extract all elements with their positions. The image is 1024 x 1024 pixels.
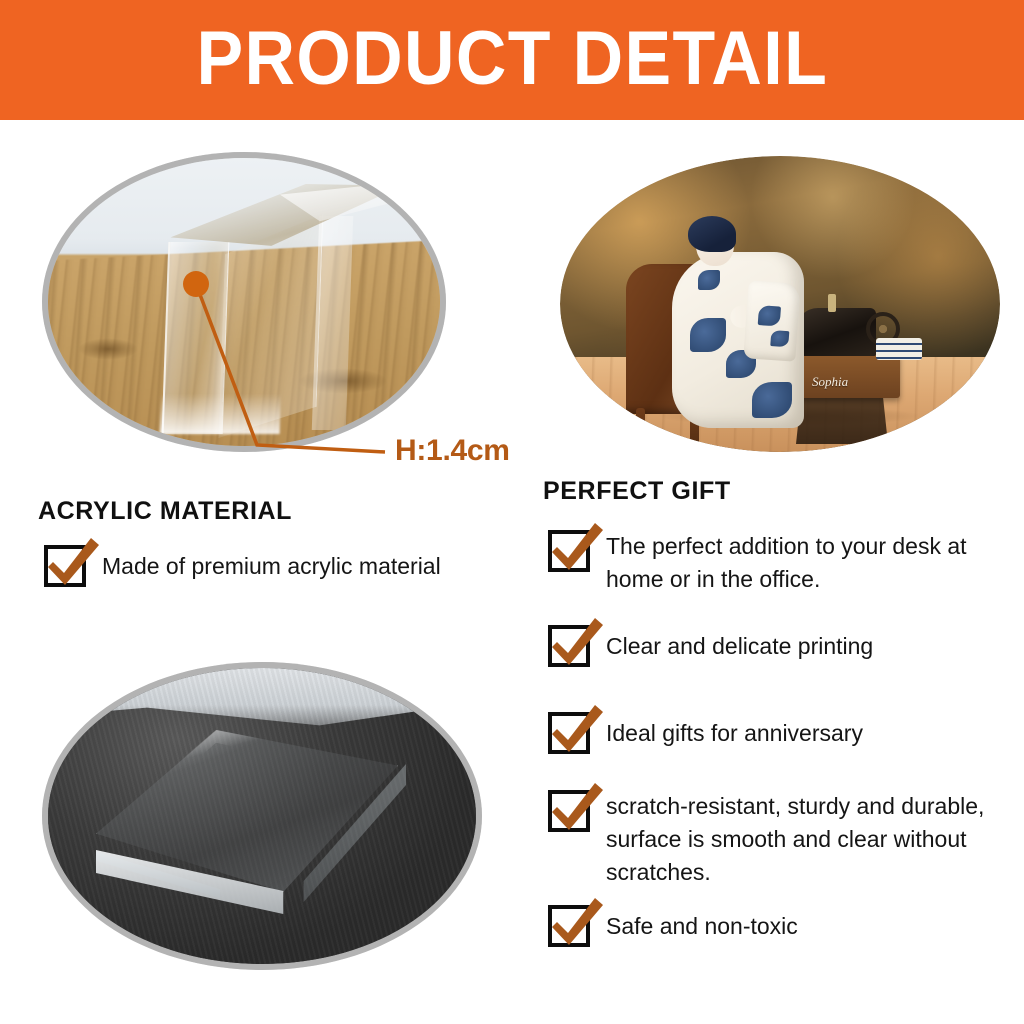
acrylic-bottom-glow: [160, 394, 281, 434]
folded-fabric-stack: [876, 338, 922, 360]
dimension-label: H:1.4cm: [395, 434, 510, 468]
thread-spool: [828, 294, 836, 312]
checkmark-icon: [548, 517, 606, 575]
acrylic-block-edge: [162, 184, 319, 434]
list-item-label: Made of premium acrylic material: [102, 550, 441, 583]
product-photo-acrylic-block: [42, 662, 482, 970]
list-item-label: Ideal gifts for anniversary: [606, 717, 863, 750]
checkbox-checked-icon: [44, 545, 86, 587]
list-item: scratch-resistant, sturdy and durable, s…: [548, 790, 1006, 889]
list-item: Made of premium acrylic material: [44, 545, 441, 587]
page-title: PRODUCT DETAIL: [196, 21, 828, 97]
list-item: Clear and delicate printing: [548, 625, 873, 667]
checkbox-checked-icon: [548, 625, 590, 667]
figurine-hair: [688, 216, 736, 252]
list-item: Safe and non-toxic: [548, 905, 798, 947]
list-item: Ideal gifts for anniversary: [548, 712, 863, 754]
acrylic-block: [96, 730, 396, 930]
blue-floral-motif: [690, 318, 726, 352]
list-item-label: The perfect addition to your desk at hom…: [606, 530, 1006, 596]
section-heading-acrylic-material: ACRYLIC MATERIAL: [38, 497, 292, 526]
product-photo-figurine: Sophia: [560, 156, 1000, 452]
checkmark-icon: [44, 532, 102, 590]
list-item-label: scratch-resistant, sturdy and durable, s…: [606, 790, 1006, 889]
wood-knot: [78, 338, 138, 360]
list-item: The perfect addition to your desk at hom…: [548, 530, 1006, 596]
acrylic-edge-scene: [48, 158, 440, 446]
checkbox-checked-icon: [548, 530, 590, 572]
sewing-machine-treadle-base: [796, 392, 888, 444]
section-heading-perfect-gift: PERFECT GIFT: [543, 477, 731, 506]
embroidered-cloth: [743, 280, 800, 361]
list-item-label: Clear and delicate printing: [606, 630, 873, 663]
checkmark-icon: [548, 612, 606, 670]
blue-floral-motif: [770, 330, 789, 347]
blue-floral-motif: [698, 270, 720, 290]
list-item-label: Safe and non-toxic: [606, 910, 798, 943]
chair-leg: [636, 408, 645, 452]
checkmark-icon: [548, 699, 606, 757]
checkbox-checked-icon: [548, 905, 590, 947]
header-banner: PRODUCT DETAIL: [0, 0, 1024, 120]
sewing-machine-head: [796, 308, 876, 356]
acrylic-block-scene: [48, 668, 476, 964]
checkmark-icon: [548, 892, 606, 950]
checkbox-checked-icon: [548, 712, 590, 754]
figurine-scene: Sophia: [560, 156, 1000, 452]
product-photo-acrylic-edge: [42, 152, 446, 452]
engraved-name-label: Sophia: [812, 374, 848, 390]
blue-floral-motif: [758, 305, 781, 326]
checkbox-checked-icon: [548, 790, 590, 832]
blue-floral-motif: [752, 382, 792, 418]
checkmark-icon: [548, 777, 606, 835]
